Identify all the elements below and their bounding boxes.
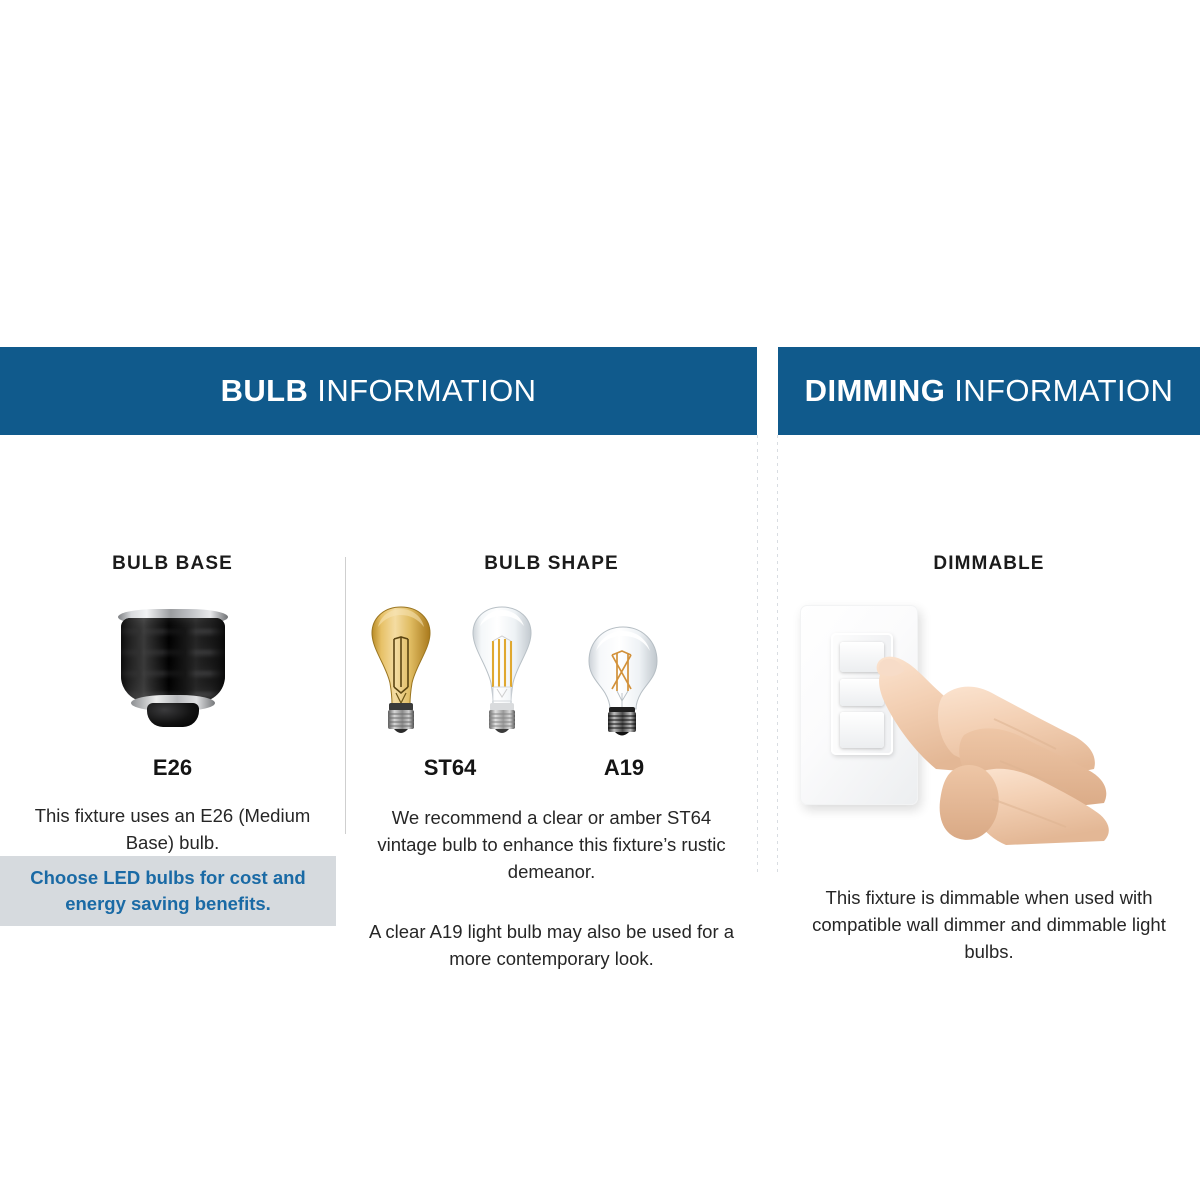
e26-tip bbox=[147, 703, 199, 727]
dimming-information-title-rest: INFORMATION bbox=[945, 373, 1173, 408]
hand-pressing-dimmer-icon bbox=[866, 623, 1126, 849]
bulb-base-image-stage bbox=[0, 601, 345, 741]
bulb-information-title: BULB INFORMATION bbox=[221, 373, 537, 409]
bulb-shape-paragraph-2: A clear A19 light bulb may also be used … bbox=[346, 919, 757, 973]
infographic-page: BULB INFORMATION BULB BASE E26 This fixt… bbox=[0, 0, 1200, 1200]
a19-clear-bulb-icon bbox=[581, 623, 665, 739]
bulb-shape-column: BULB SHAPE bbox=[346, 435, 757, 973]
bulb-base-heading: BULB BASE bbox=[0, 553, 345, 575]
led-recommendation-note: Choose LED bulbs for cost and energy sav… bbox=[0, 856, 336, 926]
bulb-information-header-band: BULB INFORMATION bbox=[0, 347, 757, 435]
bulb-shape-captions: ST64 A19 bbox=[346, 755, 757, 783]
dimmable-description: This fixture is dimmable when used with … bbox=[778, 885, 1200, 965]
e26-screw-base-icon bbox=[117, 609, 229, 727]
bulb-information-body: BULB BASE E26 This fixture uses an E26 (… bbox=[0, 435, 757, 945]
bulb-information-title-rest: INFORMATION bbox=[308, 373, 536, 408]
dimmer-image-stage bbox=[778, 597, 1200, 847]
dimmable-column: DIMMABLE bbox=[778, 553, 1200, 965]
panel-divider-dotted-left bbox=[757, 435, 758, 875]
e26-threads bbox=[121, 618, 225, 702]
st64-clear-bulb-icon bbox=[457, 603, 547, 739]
bulb-shape-heading: BULB SHAPE bbox=[346, 553, 757, 575]
bulb-base-caption: E26 bbox=[0, 755, 345, 781]
bulb-shape-image-stage bbox=[346, 601, 757, 741]
dimming-information-title-bold: DIMMING bbox=[805, 373, 946, 408]
dimming-information-title: DIMMING INFORMATION bbox=[805, 373, 1174, 409]
bulb-base-description: This fixture uses an E26 (Medium Base) b… bbox=[0, 803, 345, 857]
dimmable-heading: DIMMABLE bbox=[778, 553, 1200, 575]
bulb-shape-paragraph-1: We recommend a clear or amber ST64 vinta… bbox=[346, 805, 757, 885]
st64-amber-bulb-icon bbox=[356, 603, 446, 739]
bulb-information-title-bold: BULB bbox=[221, 373, 309, 408]
bulb-caption-st64: ST64 bbox=[360, 755, 540, 781]
led-recommendation-note-text: Choose LED bulbs for cost and energy sav… bbox=[0, 865, 336, 918]
dimming-information-panel: DIMMING INFORMATION DIMMABLE bbox=[778, 347, 1200, 965]
dimming-information-header-band: DIMMING INFORMATION bbox=[778, 347, 1200, 435]
bulb-information-panel: BULB INFORMATION BULB BASE E26 This fixt… bbox=[0, 347, 757, 945]
bulb-caption-a19: A19 bbox=[578, 755, 670, 781]
bulb-base-column: BULB BASE E26 This fixture uses an E26 (… bbox=[0, 435, 345, 857]
